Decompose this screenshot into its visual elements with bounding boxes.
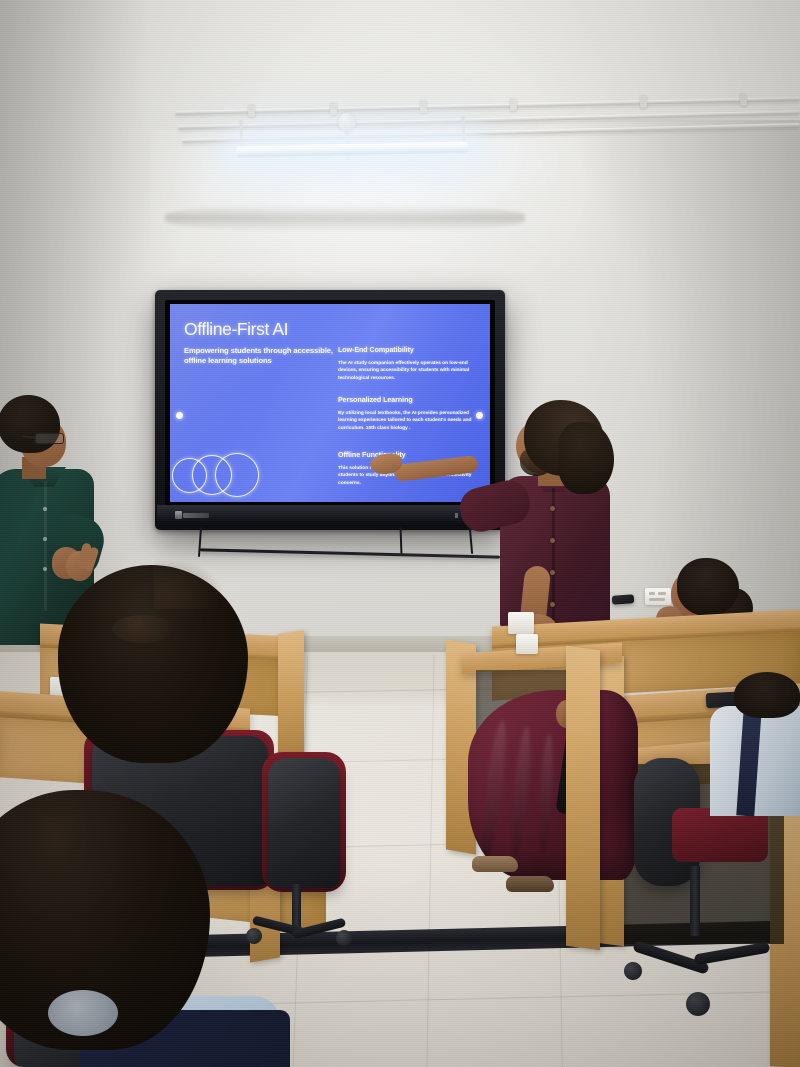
shirt-button <box>550 570 555 575</box>
shirt-button <box>43 567 47 571</box>
shirt-button <box>550 602 555 607</box>
hair-scrunchie <box>48 990 118 1036</box>
presenter-left-hair <box>0 395 60 453</box>
chair-caster-wheel <box>686 992 710 1016</box>
shirt-button <box>43 537 47 541</box>
desk-side-panel <box>278 630 304 764</box>
slide-title: Offline-First AI <box>184 320 354 338</box>
section-body: The AI study companion effectively opera… <box>338 360 478 382</box>
shirt-button <box>550 506 555 511</box>
slide-circles-decoration-icon <box>172 452 262 496</box>
presenter-right-hair-volume <box>558 422 614 494</box>
display-logo-icon <box>175 511 182 519</box>
shirt-button <box>550 538 555 543</box>
hair-tie <box>112 615 174 643</box>
pipe-clamp <box>640 95 647 108</box>
eyeglasses-icon <box>35 433 64 444</box>
slide-subtitle: Empowering students through accessible, … <box>184 346 334 366</box>
desk-power-box[interactable] <box>516 634 538 654</box>
slide-accent-dot-icon <box>176 412 183 419</box>
student-center-back-of-head <box>58 565 258 765</box>
classroom-photo: Offline-First AI Empowering students thr… <box>0 0 800 1067</box>
woman-hair <box>677 558 739 616</box>
device-on-desk[interactable] <box>612 594 635 605</box>
sandal <box>506 876 554 892</box>
desk-side-panel <box>566 646 600 951</box>
chair-stem <box>690 866 700 936</box>
presenter-left-placket <box>44 481 47 611</box>
light-halo <box>149 106 571 235</box>
section-heading: Low-End Compatibility <box>338 346 478 354</box>
sandal <box>472 856 518 872</box>
hair-strands <box>154 559 224 609</box>
desk-power-box[interactable] <box>508 612 534 634</box>
student-foreground <box>0 790 290 1067</box>
pipe-clamp <box>740 93 747 106</box>
display-brand-strip <box>183 513 209 518</box>
chair-caster-wheel <box>624 962 642 980</box>
slide-section-low-end-compatibility: Low-End Compatibility The AI study compa… <box>338 346 478 382</box>
decoration-circle <box>215 453 259 497</box>
presenter-right <box>440 398 660 648</box>
chair-caster-wheel <box>336 930 352 946</box>
shirt-button <box>43 507 47 511</box>
student-right-edge <box>700 672 800 812</box>
student-hair <box>734 672 800 718</box>
